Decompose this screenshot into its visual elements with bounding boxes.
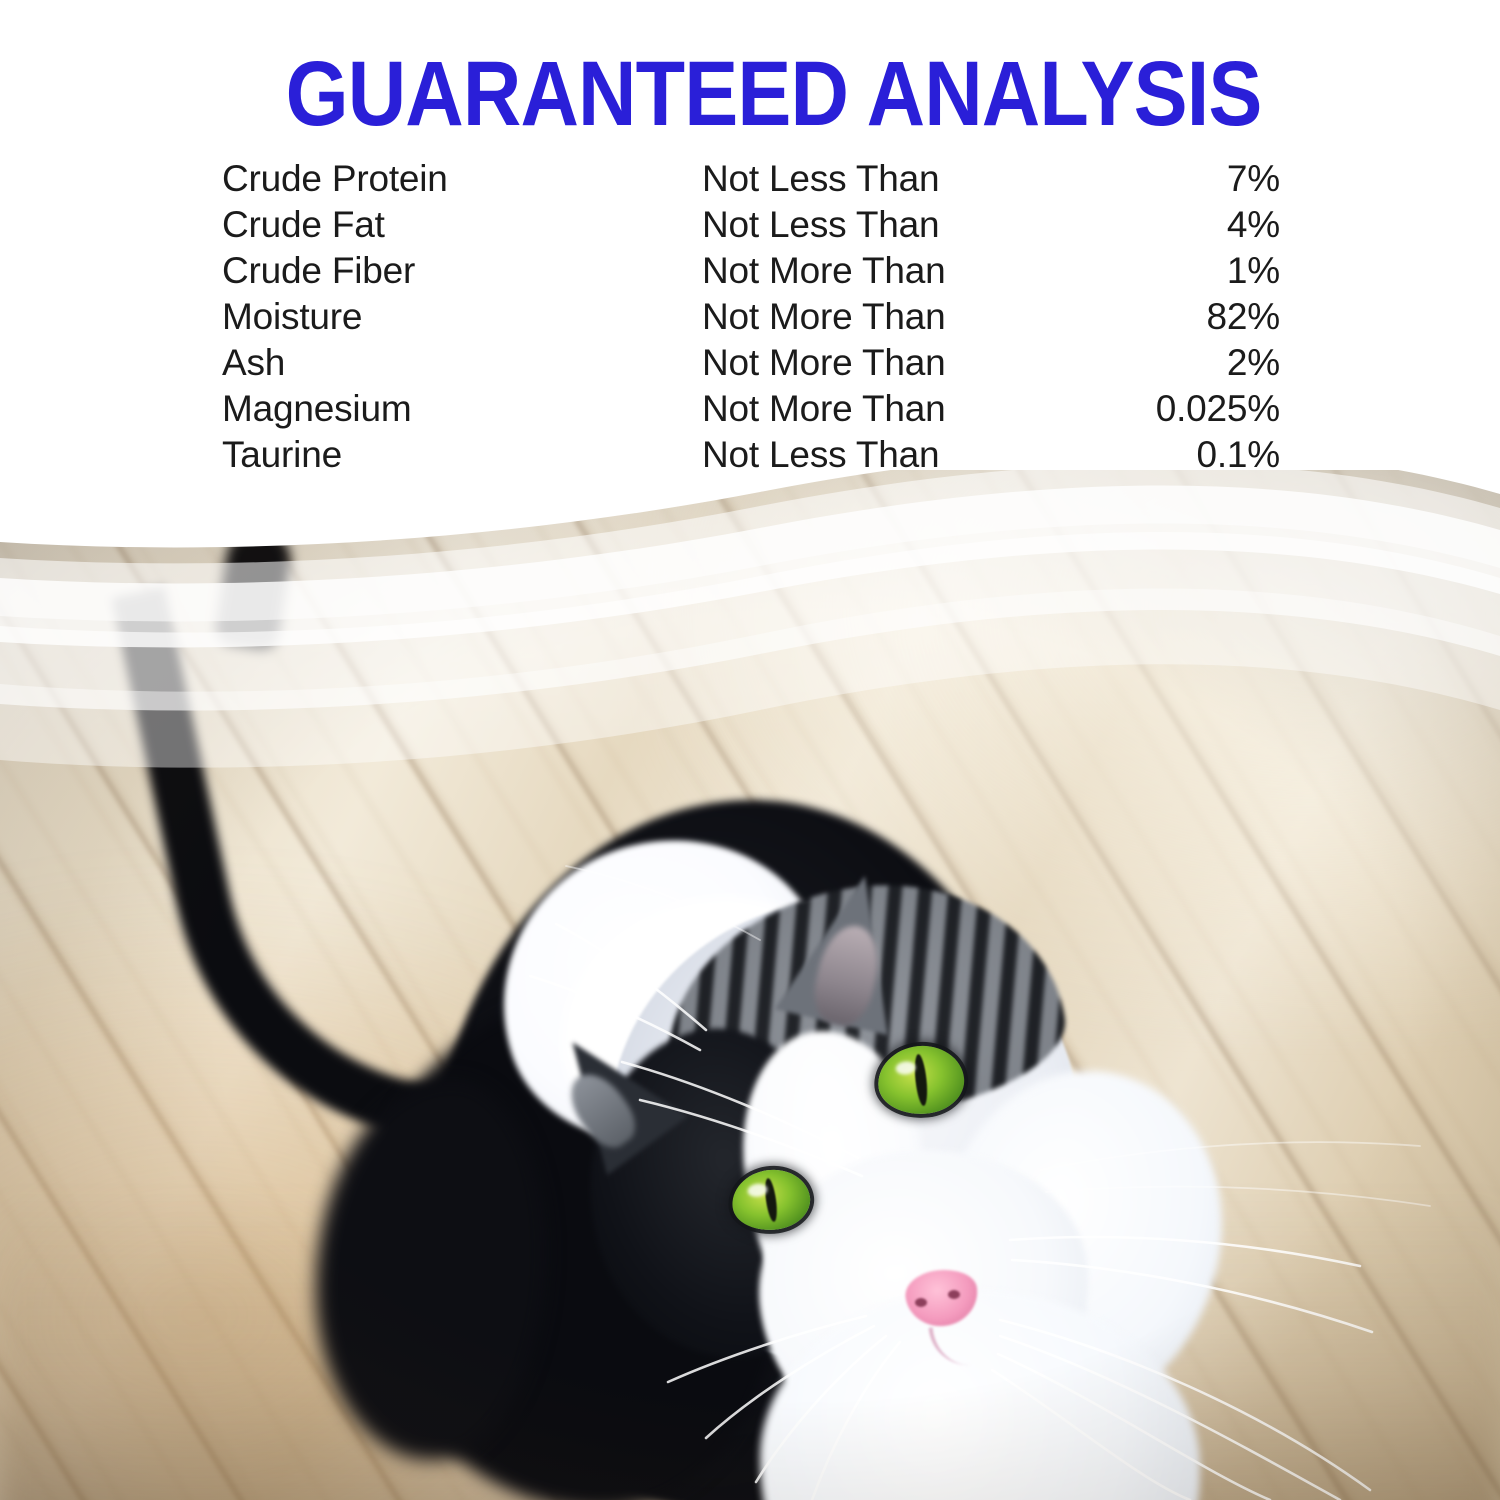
table-row: Crude Fat Not Less Than 4% [222,202,1280,248]
table-row: Magnesium Not More Than 0.025% [222,386,1280,432]
nutrient-value: 82% [1122,294,1280,340]
nutrient-value: 1% [1122,248,1280,294]
nutrient-label: Crude Fat [222,202,702,248]
nutrient-value: 7% [1122,156,1280,202]
nutrient-label: Taurine [222,432,702,478]
nutrient-value: 4% [1122,202,1280,248]
product-label-panel: GUARANTEED ANALYSIS Crude Protein Not Le… [0,0,1500,1500]
qualifier-label: Not More Than [702,248,1122,294]
qualifier-label: Not Less Than [702,432,1122,478]
qualifier-label: Not Less Than [702,156,1122,202]
table-row: Crude Protein Not Less Than 7% [222,156,1280,202]
nutrient-value: 0.025% [1122,386,1280,432]
table-row: Ash Not More Than 2% [222,340,1280,386]
table-row: Taurine Not Less Than 0.1% [222,432,1280,478]
nutrient-label: Moisture [222,294,702,340]
guaranteed-analysis-panel: GUARANTEED ANALYSIS Crude Protein Not Le… [0,0,1500,470]
table-row: Crude Fiber Not More Than 1% [222,248,1280,294]
nutrient-label: Crude Protein [222,156,702,202]
nutrient-value: 2% [1122,340,1280,386]
guaranteed-analysis-table: Crude Protein Not Less Than 7% Crude Fat… [222,156,1280,478]
qualifier-label: Not More Than [702,386,1122,432]
nutrient-label: Crude Fiber [222,248,702,294]
cat-photo [0,470,1500,1500]
qualifier-label: Not More Than [702,340,1122,386]
nutrient-label: Magnesium [222,386,702,432]
nutrient-label: Ash [222,340,702,386]
page-title: GUARANTEED ANALYSIS [286,46,1219,142]
qualifier-label: Not More Than [702,294,1122,340]
table-row: Moisture Not More Than 82% [222,294,1280,340]
photo-vignette [0,470,1500,1500]
nutrient-value: 0.1% [1122,432,1280,478]
qualifier-label: Not Less Than [702,202,1122,248]
